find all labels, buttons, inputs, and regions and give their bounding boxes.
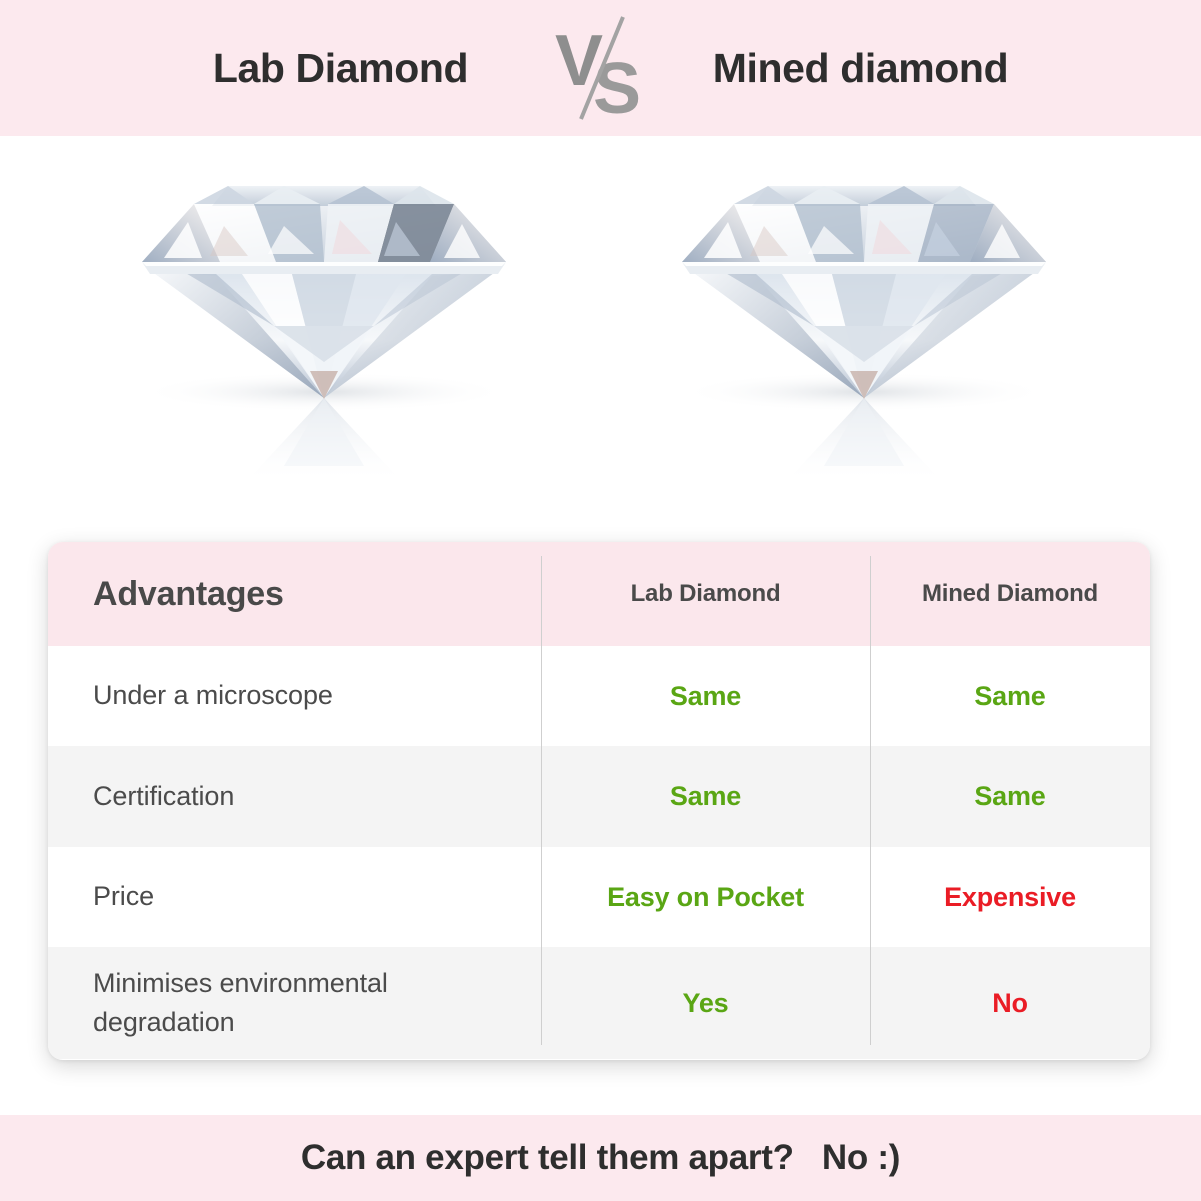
row-lab-value: Same (670, 781, 741, 812)
row-lab-cell: Easy on Pocket (541, 847, 870, 947)
row-mined-value: Expensive (944, 882, 1076, 913)
header-title-lab: Lab Diamond (141, 45, 541, 92)
row-feature-cell: Certification (48, 746, 541, 847)
row-mined-value: No (992, 988, 1028, 1019)
row-feature-label: Under a microscope (93, 676, 333, 715)
comparison-infographic: Lab Diamond V S Mined diamond (0, 0, 1201, 1201)
advantages-label: Advantages (93, 575, 284, 614)
header-cell-mined-diamond: Mined Diamond (870, 542, 1150, 646)
row-feature-label: Certification (93, 777, 234, 816)
diamond-icon-mined (664, 166, 1064, 496)
header-band: Lab Diamond V S Mined diamond (0, 0, 1201, 136)
row-mined-cell: Expensive (870, 847, 1150, 947)
row-lab-cell: Yes (541, 947, 870, 1059)
row-mined-cell: Same (870, 646, 1150, 746)
header-cell-lab-diamond: Lab Diamond (541, 542, 870, 646)
header-cell-advantages: Advantages (48, 542, 541, 646)
row-lab-cell: Same (541, 646, 870, 746)
comparison-table: Advantages Lab Diamond Mined Diamond Und… (48, 542, 1150, 1060)
row-feature-cell: Price (48, 847, 541, 947)
table-row: Minimises environmental degradation Yes … (48, 947, 1150, 1059)
footer-band: Can an expert tell them apart? No :) (0, 1115, 1201, 1201)
row-feature-cell: Minimises environmental degradation (48, 947, 541, 1059)
row-mined-cell: No (870, 947, 1150, 1059)
row-lab-value: Yes (683, 988, 729, 1019)
row-lab-value: Easy on Pocket (607, 882, 804, 913)
row-feature-cell: Under a microscope (48, 646, 541, 746)
table-row: Under a microscope Same Same (48, 646, 1150, 746)
row-mined-value: Same (974, 781, 1045, 812)
svg-text:S: S (593, 49, 641, 123)
row-feature-label: Price (93, 877, 154, 916)
table-row: Certification Same Same (48, 746, 1150, 847)
diamond-icon-lab (124, 166, 524, 496)
vs-icon: V S (541, 13, 661, 123)
table-row: Price Easy on Pocket Expensive (48, 847, 1150, 947)
footer-question: Can an expert tell them apart? No :) (301, 1138, 900, 1178)
mined-diamond-col-label: Mined Diamond (922, 580, 1098, 608)
table-header-row: Advantages Lab Diamond Mined Diamond (48, 542, 1150, 646)
diamond-stage (0, 136, 1201, 532)
row-lab-value: Same (670, 681, 741, 712)
row-feature-label: Minimises environmental degradation (93, 964, 527, 1042)
lab-diamond-col-label: Lab Diamond (631, 580, 781, 608)
row-lab-cell: Same (541, 746, 870, 847)
header-title-mined: Mined diamond (661, 45, 1061, 92)
row-mined-value: Same (974, 681, 1045, 712)
row-mined-cell: Same (870, 746, 1150, 847)
